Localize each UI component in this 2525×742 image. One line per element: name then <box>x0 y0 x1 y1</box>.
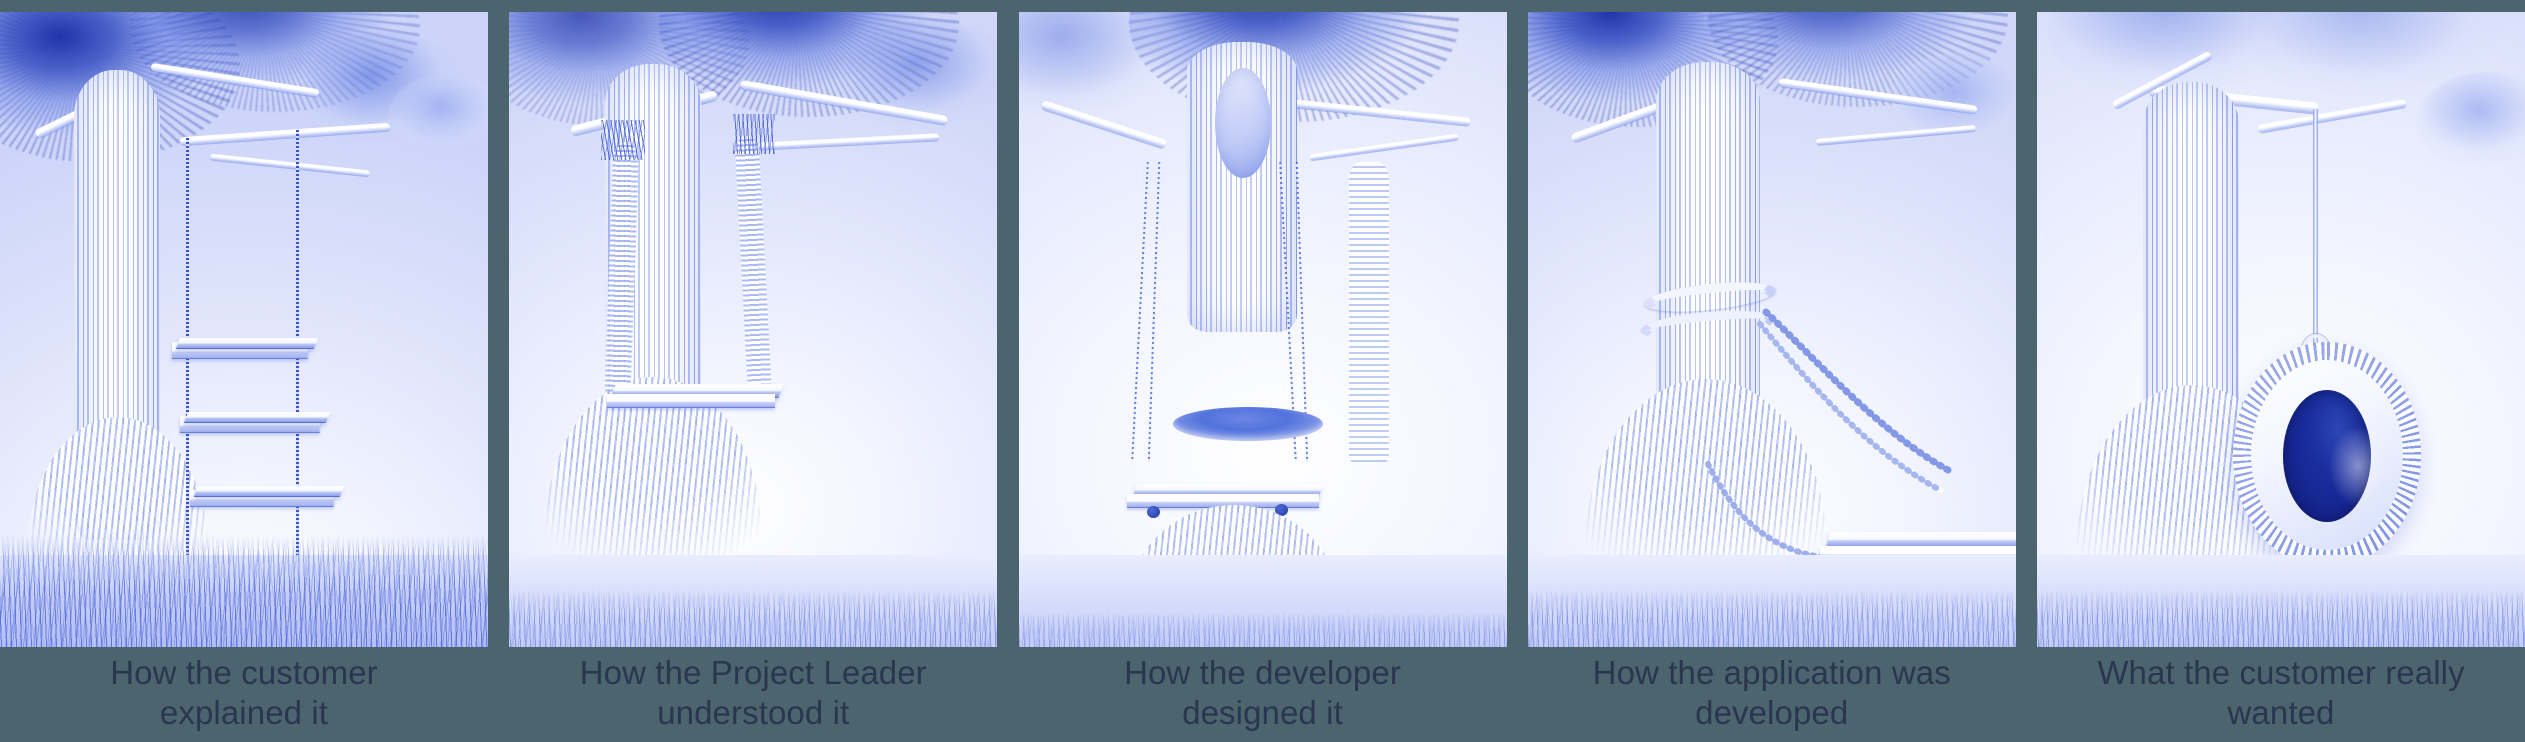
panel-3-caption: How the developer designed it <box>1019 653 1507 734</box>
foreground-grass <box>509 589 997 647</box>
tire-highlight <box>2329 426 2387 506</box>
panel-2-artwork <box>509 12 997 647</box>
caption-line-2: developed <box>1528 693 2016 733</box>
trunk-hollow <box>1215 68 1271 178</box>
panel-5[interactable]: What the customer really wanted <box>2037 12 2525 742</box>
side-trunk <box>1349 162 1389 462</box>
panel-1-caption: How the customer explained it <box>0 653 488 734</box>
panel-2[interactable]: How the Project Leader understood it <box>509 12 997 742</box>
panel-2-caption: How the Project Leader understood it <box>509 653 997 734</box>
caption-line-2: wanted <box>2037 693 2525 733</box>
foreground-grass <box>0 535 488 647</box>
caption-line-1: What the customer really <box>2037 653 2525 693</box>
board-middle-face <box>184 412 330 423</box>
panel-4-caption: How the application was developed <box>1528 653 2016 734</box>
swing-seat-edge <box>607 394 775 408</box>
foreground-grass <box>1528 589 2016 647</box>
caption-line-1: How the customer <box>0 653 488 693</box>
tire-rope <box>2313 108 2318 346</box>
panel-5-caption: What the customer really wanted <box>2037 653 2525 734</box>
panel-3-artwork <box>1019 12 1507 647</box>
floating-disc <box>1173 407 1323 441</box>
foreground-grass <box>2037 589 2525 647</box>
panel-1-artwork <box>0 12 488 647</box>
support-right-fray <box>733 114 775 154</box>
panel-3[interactable]: How the developer designed it <box>1019 12 1507 742</box>
caption-line-1: How the developer <box>1019 653 1507 693</box>
board-bottom-face <box>194 486 344 497</box>
caption-line-1: How the application was <box>1528 653 2016 693</box>
panel-4-artwork <box>1528 12 2016 647</box>
comic-strip: How the customer explained it <box>0 0 2525 742</box>
panel-4[interactable]: How the application was developed <box>1528 12 2016 742</box>
foreground-grass <box>1019 613 1507 647</box>
board-top-face <box>176 338 318 349</box>
panel-5-artwork <box>2037 12 2525 647</box>
peg-left <box>1147 506 1160 518</box>
support-left-fray <box>601 120 645 160</box>
caption-line-2: explained it <box>0 693 488 733</box>
caption-line-1: How the Project Leader <box>509 653 997 693</box>
caption-line-2: understood it <box>509 693 997 733</box>
panel-1[interactable]: How the customer explained it <box>0 12 488 742</box>
caption-line-2: designed it <box>1019 693 1507 733</box>
